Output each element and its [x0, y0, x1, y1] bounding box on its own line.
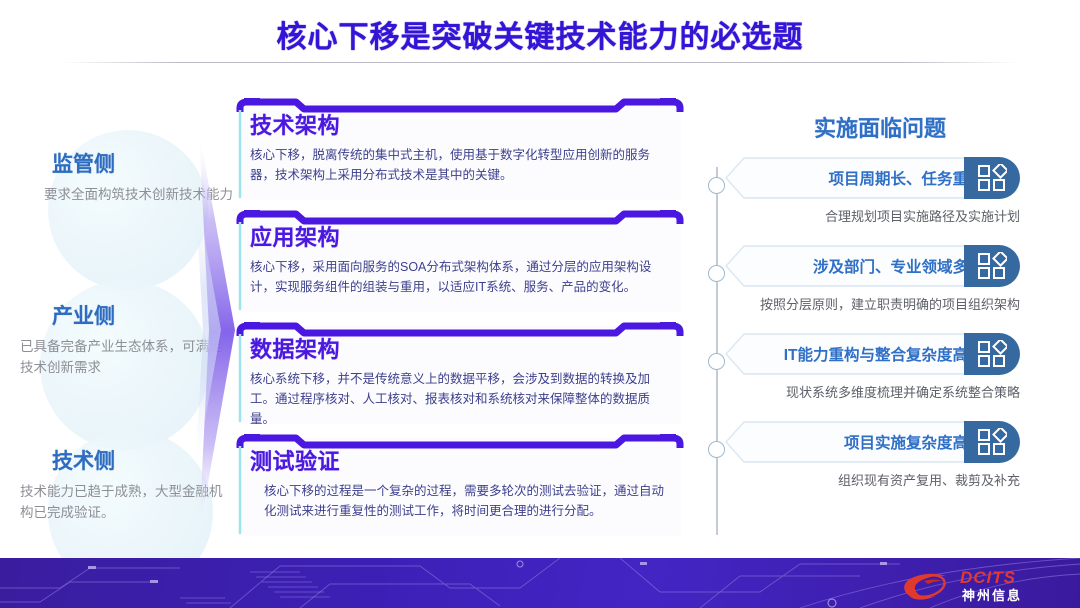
grid-diamond-icon [964, 333, 1020, 375]
card-body: 应用架构 核心下移，采用面向服务的SOA分布式架构体系，通过分层的应用架构设计，… [250, 220, 670, 308]
issue-item[interactable]: IT能力重构与整合复杂度高 现状系统多维度梳理并确定系统整合策略 [724, 333, 1044, 401]
card-body: 测试验证 核心下移的过程是一个复杂的过程，需要多轮次的测试去验证，通过自动化测试… [250, 444, 670, 532]
card-tech-architecture[interactable]: 技术架构 核心下移，脱离传统的集中式主机，使用基于数字化转型应用创新的服务器，技… [236, 98, 684, 202]
title-bar: 核心下移是突破关键技术能力的必选题 [0, 0, 1080, 72]
issues-panel-title: 实施面临问题 [700, 111, 1060, 143]
issues-panel: 实施面临问题 项目周期长、任务重 合理规划项目实施路径及实施计划 [700, 105, 1080, 545]
card-title: 数据架构 [250, 332, 670, 364]
timeline-dot [708, 441, 725, 458]
card-text: 核心下移，脱离传统的集中式主机，使用基于数字化转型应用创新的服务器，技术架构上采… [250, 145, 670, 185]
issue-label: IT能力重构与整合复杂度高 [768, 333, 968, 375]
issue-subtext: 按照分层原则，建立职责明确的项目组织架构 [724, 294, 1024, 313]
grid-diamond-icon [964, 157, 1020, 199]
issue-label: 项目实施复杂度高 [768, 421, 968, 463]
timeline-dot [708, 265, 725, 282]
timeline-axis [716, 167, 718, 535]
issue-pill[interactable]: 项目周期长、任务重 [724, 157, 1020, 199]
issue-subtext: 组织现有资产复用、裁剪及补充 [724, 470, 1024, 489]
timeline-dot [708, 353, 725, 370]
card-text: 核心下移的过程是一个复杂的过程，需要多轮次的测试去验证，通过自动化测试来进行重复… [250, 481, 670, 521]
dcits-swoosh-icon [898, 569, 960, 603]
card-text: 核心系统下移，并不是传统意义上的数据平移，会涉及到数据的转换及加工。通过程序核对… [250, 369, 670, 429]
issue-item[interactable]: 涉及部门、专业领域多 按照分层原则，建立职责明确的项目组织架构 [724, 245, 1044, 313]
grid-diamond-icon [964, 245, 1020, 287]
card-body: 数据架构 核心系统下移，并不是传统意义上的数据平移，会涉及到数据的转换及加工。通… [250, 332, 670, 420]
grid-diamond-icon [964, 421, 1020, 463]
arrow-blade-icon [195, 125, 241, 540]
title-divider [62, 62, 1018, 63]
page-title: 核心下移是突破关键技术能力的必选题 [0, 12, 1080, 56]
card-title: 技术架构 [250, 108, 670, 140]
logo-chinese-name: 神州信息 [962, 585, 1022, 604]
issue-label: 项目周期长、任务重 [768, 157, 968, 199]
issue-label: 涉及部门、专业领域多 [768, 245, 968, 287]
card-text: 核心下移，采用面向服务的SOA分布式架构体系，通过分层的应用架构设计，实现服务组… [250, 257, 670, 297]
issue-pill[interactable]: 涉及部门、专业领域多 [724, 245, 1020, 287]
issue-item[interactable]: 项目周期长、任务重 合理规划项目实施路径及实施计划 [724, 157, 1044, 225]
issue-pill[interactable]: 项目实施复杂度高 [724, 421, 1020, 463]
issue-subtext: 现状系统多维度梳理并确定系统整合策略 [724, 382, 1024, 401]
card-body: 技术架构 核心下移，脱离传统的集中式主机，使用基于数字化转型应用创新的服务器，技… [250, 108, 670, 196]
issue-pill[interactable]: IT能力重构与整合复杂度高 [724, 333, 1020, 375]
company-logo: DCITS 神州信息 [898, 568, 1066, 602]
card-title: 测试验证 [250, 444, 670, 476]
footer-band: DCITS 神州信息 [0, 558, 1080, 608]
card-test-verification[interactable]: 测试验证 核心下移的过程是一个复杂的过程，需要多轮次的测试去验证，通过自动化测试… [236, 434, 684, 538]
card-app-architecture[interactable]: 应用架构 核心下移，采用面向服务的SOA分布式架构体系，通过分层的应用架构设计，… [236, 210, 684, 314]
issue-item[interactable]: 项目实施复杂度高 组织现有资产复用、裁剪及补充 [724, 421, 1044, 489]
timeline-dot [708, 177, 725, 194]
card-title: 应用架构 [250, 220, 670, 252]
card-data-architecture[interactable]: 数据架构 核心系统下移，并不是传统意义上的数据平移，会涉及到数据的转换及加工。通… [236, 322, 684, 426]
issue-subtext: 合理规划项目实施路径及实施计划 [724, 206, 1024, 225]
architecture-cards: 技术架构 核心下移，脱离传统的集中式主机，使用基于数字化转型应用创新的服务器，技… [236, 98, 688, 548]
